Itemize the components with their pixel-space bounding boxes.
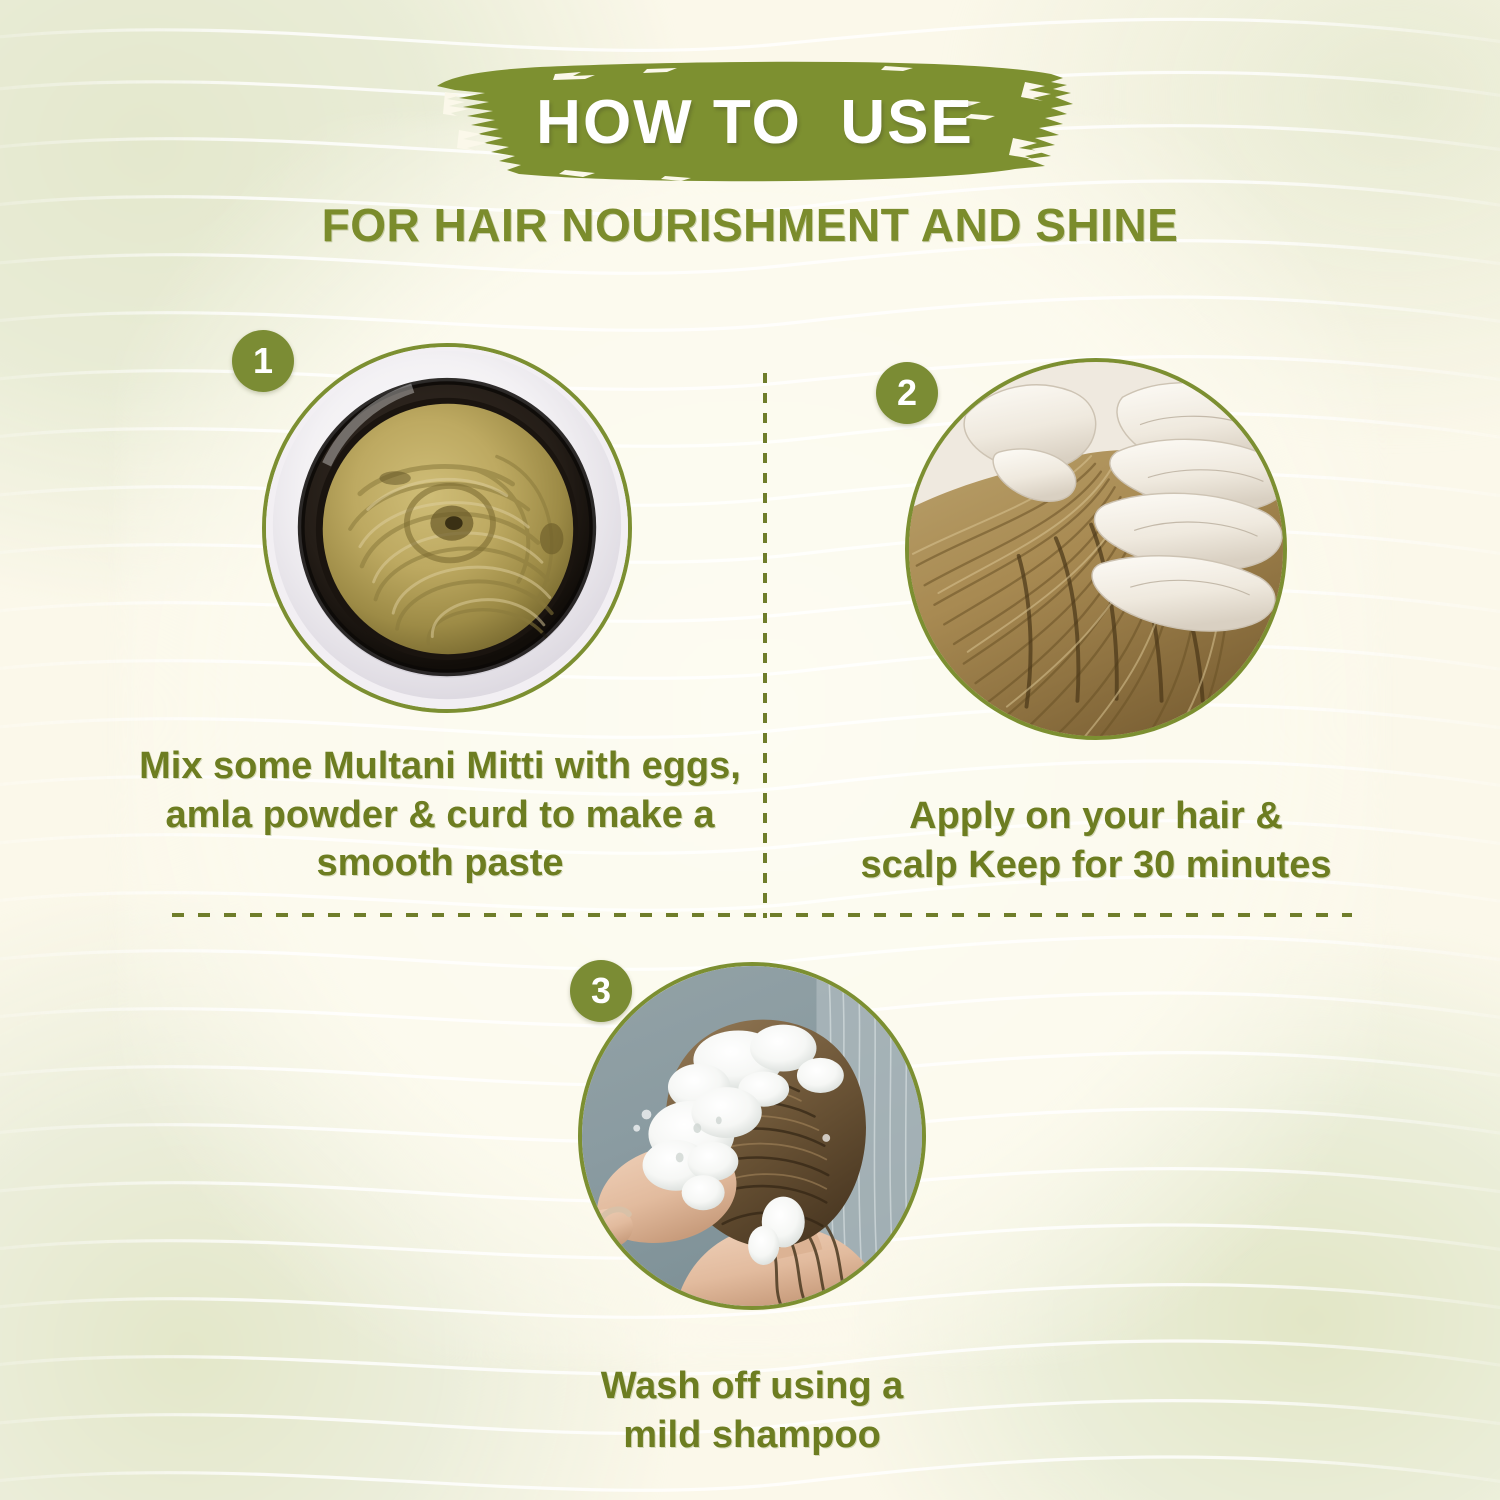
header-brush-banner: HOW TO USE xyxy=(415,52,1095,192)
step-2-image[interactable] xyxy=(905,358,1287,740)
horizontal-dashed-divider xyxy=(172,913,1352,917)
woman-washing-hair-with-shampoo-icon xyxy=(582,966,922,1306)
step-1-badge: 1 xyxy=(232,330,294,392)
page-title: HOW TO USE xyxy=(415,52,1095,192)
gloved-hands-applying-paste-to-hair-icon xyxy=(909,362,1283,736)
step-3-caption: Wash off using a mild shampoo xyxy=(452,1362,1052,1459)
step-3-image[interactable] xyxy=(578,962,926,1310)
step-2-caption: Apply on your hair & scalp Keep for 30 m… xyxy=(818,792,1374,889)
page-subtitle: FOR HAIR NOURISHMENT AND SHINE xyxy=(0,198,1500,252)
step-1-caption: Mix some Multani Mitti with eggs, amla p… xyxy=(110,742,770,888)
infographic-canvas: HOW TO USE FOR HAIR NOURISHMENT AND SHIN… xyxy=(0,0,1500,1500)
bowl-of-multani-mitti-paste-icon xyxy=(266,347,628,709)
step-1-image[interactable] xyxy=(262,343,632,713)
step-3-badge: 3 xyxy=(570,960,632,1022)
step-2-badge: 2 xyxy=(876,362,938,424)
